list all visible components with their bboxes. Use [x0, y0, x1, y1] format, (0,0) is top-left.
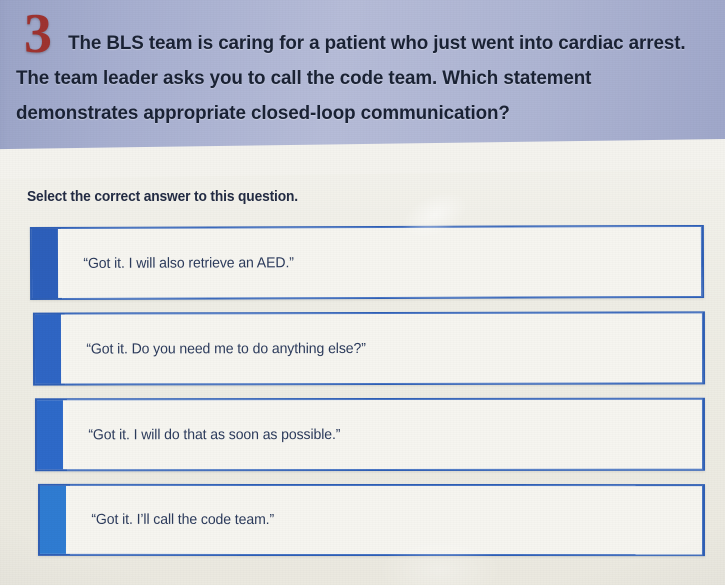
- answer-option-2[interactable]: “Got it. Do you need me to do anything e…: [33, 311, 705, 385]
- option-accent-bar: [37, 400, 63, 469]
- option-accent-bar: [40, 486, 66, 554]
- question-body: Select the correct answer to this questi…: [0, 158, 725, 585]
- option-accent-bar: [35, 315, 61, 384]
- option-accent-bar: [32, 229, 58, 298]
- question-text: The BLS team is caring for a patient who…: [16, 26, 703, 131]
- option-label: “Got it. I will do that as soon as possi…: [67, 427, 340, 443]
- option-body[interactable]: “Got it. I’ll call the code team.”: [70, 485, 703, 555]
- answer-option-4[interactable]: “Got it. I’ll call the code team.”: [38, 484, 705, 556]
- option-body[interactable]: “Got it. I will also retrieve an AED.”: [62, 226, 702, 299]
- answer-option-1[interactable]: “Got it. I will also retrieve an AED.”: [30, 225, 704, 300]
- answer-options-list: “Got it. I will also retrieve an AED.” “…: [0, 226, 725, 569]
- option-body[interactable]: “Got it. I will do that as soon as possi…: [67, 399, 703, 471]
- answer-option-3[interactable]: “Got it. I will do that as soon as possi…: [35, 398, 705, 472]
- option-body[interactable]: “Got it. Do you need me to do anything e…: [65, 312, 703, 384]
- option-label: “Got it. I will also retrieve an AED.”: [62, 255, 294, 272]
- option-label: “Got it. I’ll call the code team.”: [70, 512, 274, 528]
- option-label: “Got it. Do you need me to do anything e…: [65, 341, 366, 358]
- quiz-screen: 3 The BLS team is caring for a patient w…: [0, 0, 725, 585]
- instruction-text: Select the correct answer to this questi…: [27, 189, 298, 205]
